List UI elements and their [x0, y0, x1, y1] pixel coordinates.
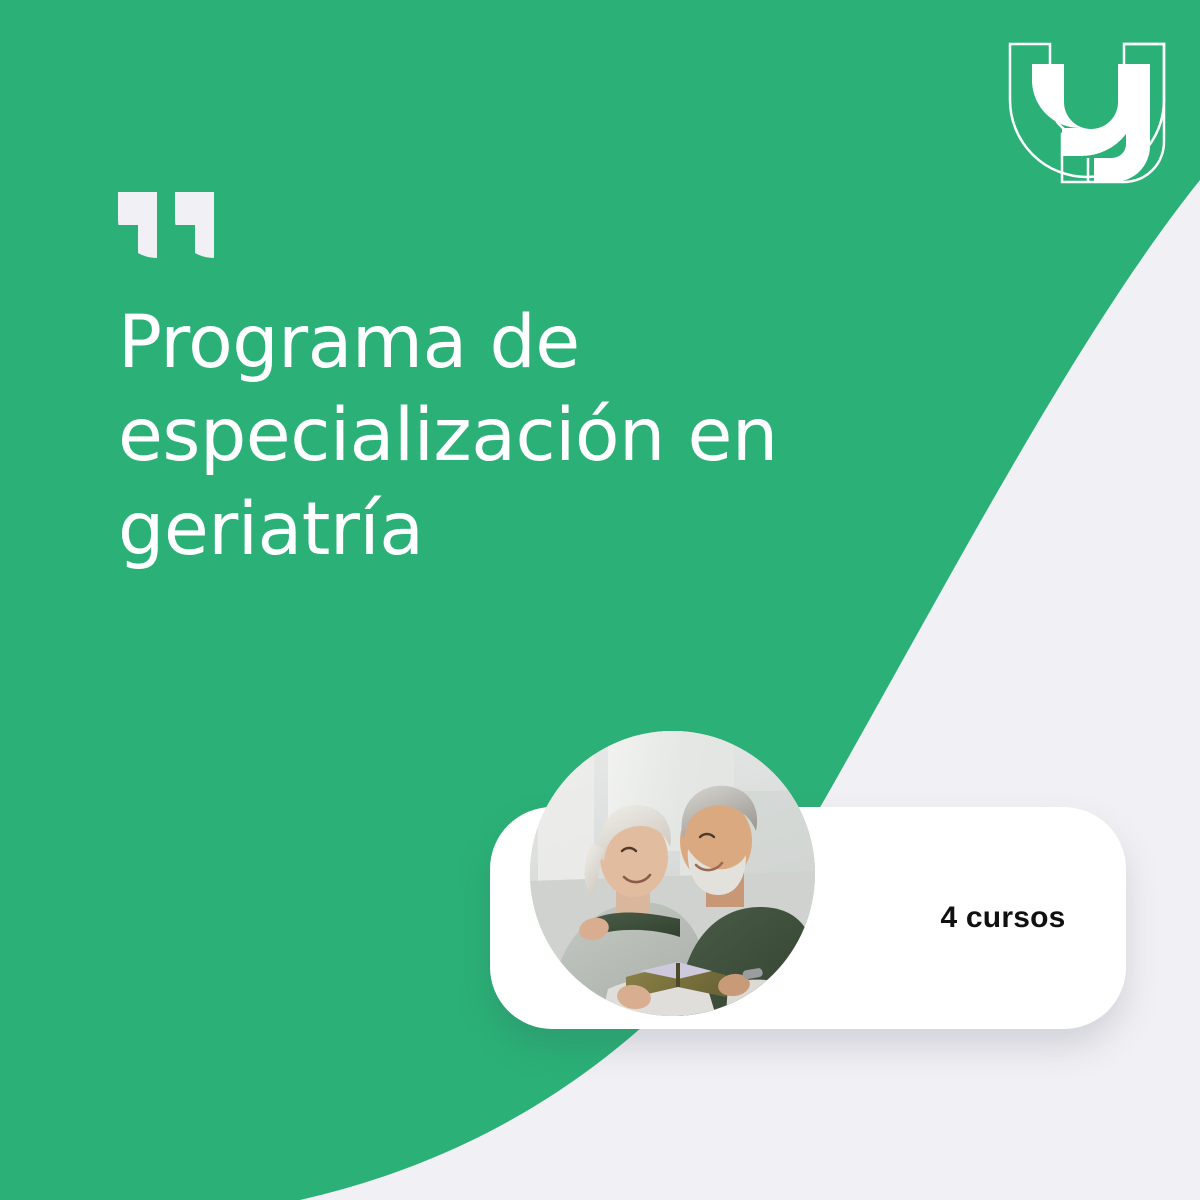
- quote-glyph-right: [175, 192, 214, 258]
- course-program-poster: Programa de especialización en geriatría…: [0, 0, 1200, 1200]
- quote-glyph-left: [118, 192, 157, 258]
- elderly-couple-photo: [530, 731, 815, 1016]
- quotation-mark-icon: [118, 192, 214, 258]
- page-title: Programa de especialización en geriatría: [118, 296, 878, 576]
- y-brand-logo-icon: [1002, 38, 1172, 188]
- course-count-label: 4 cursos: [880, 807, 1126, 1029]
